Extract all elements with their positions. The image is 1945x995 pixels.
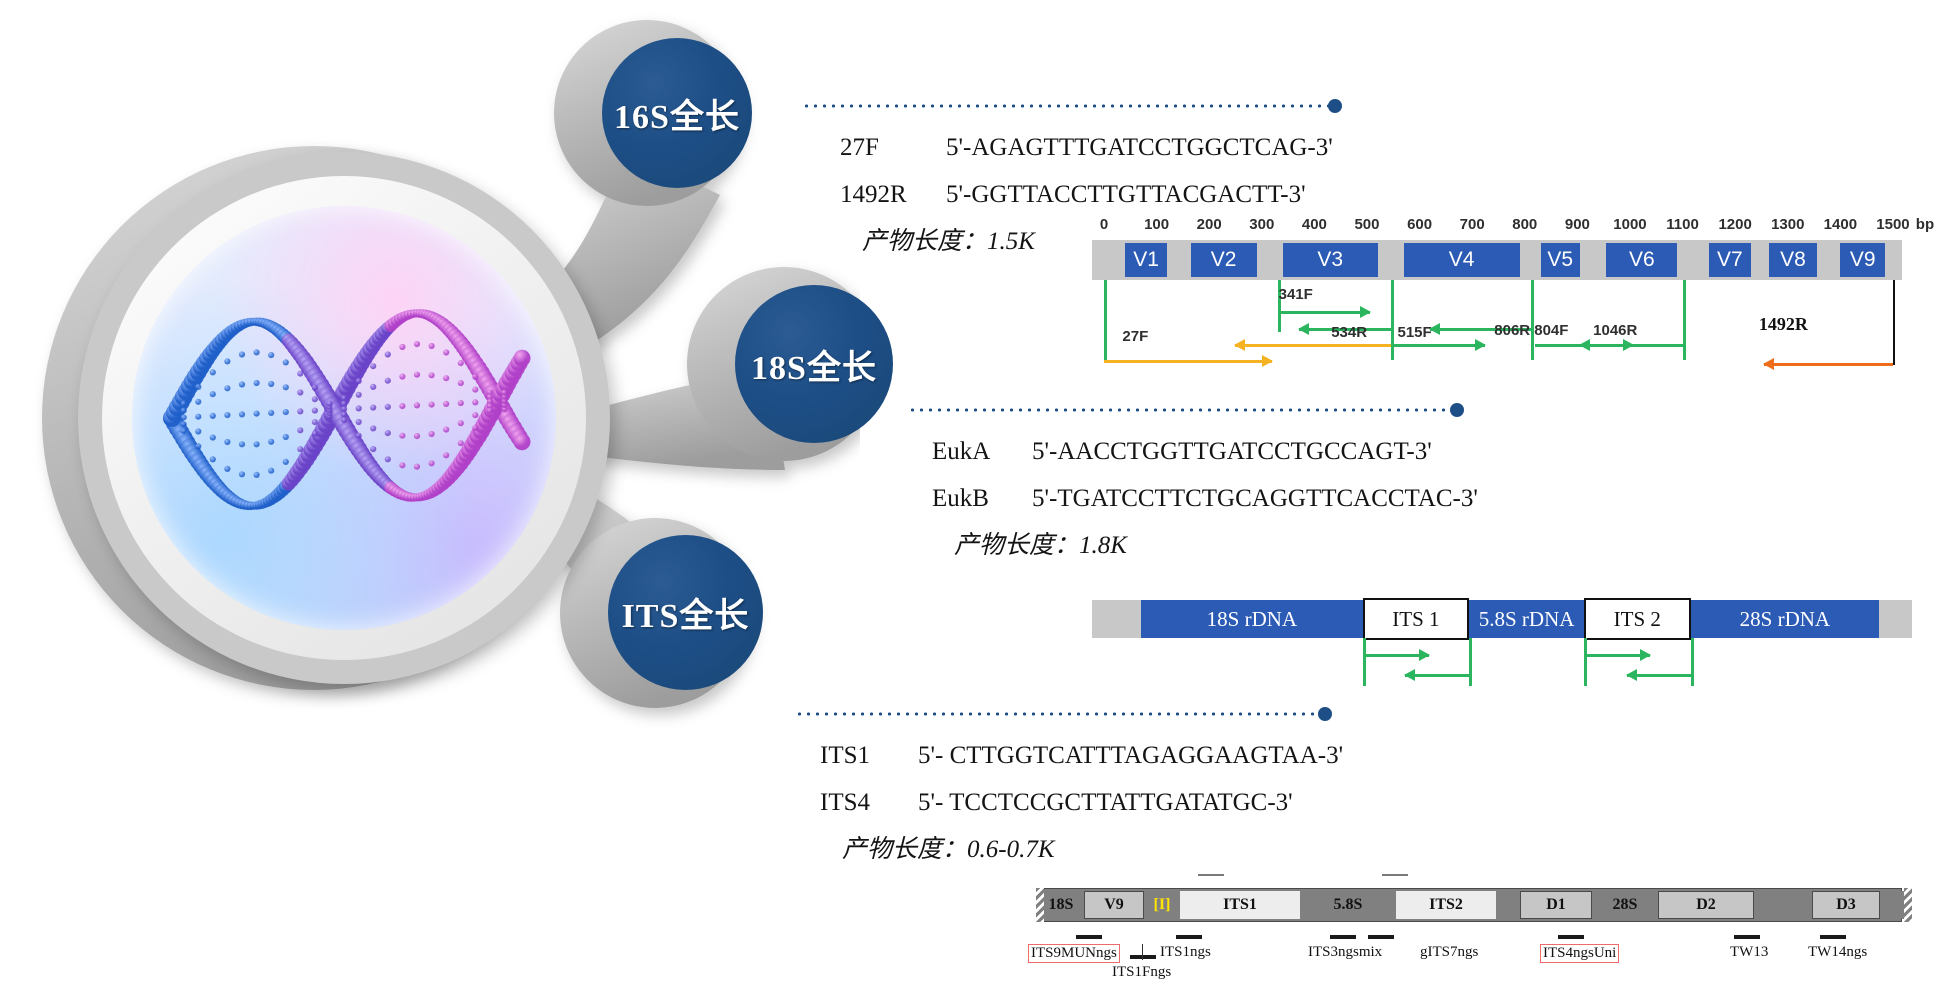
operon-primer-site-line [1363, 638, 1366, 686]
axis-tick: 0 [1100, 216, 1108, 233]
axis-tick: 1400 [1824, 216, 1857, 233]
ngs-primer-arrow-icon [1130, 950, 1156, 959]
badge-16s-full-length[interactable]: 16S全长 [602, 38, 752, 188]
primer-label: 806R [1494, 322, 1530, 339]
ngs-segment-28s: 28S [1592, 891, 1658, 919]
axis-tick: 300 [1249, 216, 1274, 233]
primer-site-line [1683, 280, 1686, 360]
axis-tick: 1200 [1718, 216, 1751, 233]
ngs-primer-arrow-icon [1558, 930, 1584, 939]
ngs-primer-arrow-icon [1076, 930, 1102, 939]
operon-segment-28s-rdna: 28S rDNA [1691, 600, 1880, 638]
ngs-primer-label-its4ngsuni: ITS4ngsUni [1540, 944, 1619, 963]
primer-name: 1492R [840, 171, 946, 218]
product-length-its: 产物长度：0.6-0.7K [820, 826, 1343, 873]
ngs-segment-spacer12 [1880, 891, 1904, 919]
operon-segment-5-8s-rdna: 5.8S rDNA [1469, 600, 1584, 638]
arrow-head-icon [1095, 926, 1104, 938]
operon-segment-its-2: ITS 2 [1584, 598, 1691, 640]
arrow-head-icon [1419, 649, 1430, 661]
arrow-head-icon [1262, 355, 1273, 367]
primer-name: EukB [932, 475, 1032, 522]
primer-row: EukB5'-TGATCCTTCTGCAGGTTCACCTAC-3' [932, 475, 1478, 522]
primer-label: 27F [1122, 328, 1148, 345]
arrow-head-icon [1556, 926, 1565, 938]
primer-block-its: ITS15'- CTTGGTCATTTAGAGGAAGTAA-3' ITS45'… [820, 732, 1343, 873]
connector-dot-16s [1328, 99, 1342, 113]
primer-label: 534R [1331, 324, 1367, 341]
arrow-head-icon [1818, 926, 1827, 938]
arrow-head-icon [1149, 946, 1158, 958]
ngs-primer-label-gits7ngs: gITS7ngs [1420, 944, 1478, 961]
chart-its-ngs-primer-map: 18SV9[I]ITS15.8SITS2D128SD2D3 ITS9MUNngs… [1030, 888, 1910, 988]
ngs-segment--i-: [I] [1144, 891, 1180, 919]
arrow-head-icon [1579, 339, 1590, 351]
connector-dot-18s [1450, 403, 1464, 417]
connector-line-its [795, 712, 1325, 716]
ngs-label-separator [1142, 944, 1143, 960]
ngs-segment-5-8s: 5.8S [1300, 891, 1396, 919]
primer-name: ITS4 [820, 779, 918, 826]
primer-arrow [1580, 344, 1683, 347]
arrow-head-icon [1475, 339, 1486, 351]
ngs-segment-d2: D2 [1658, 891, 1754, 919]
primer-sequence: 5'-AGAGTTTGATCCTGGCTCAG-3' [946, 134, 1333, 161]
ngs-primer-label-its3ngsmix: ITS3ngsmix [1308, 944, 1382, 961]
ngs-segment-18s: 18S [1038, 891, 1084, 919]
arrow-head-icon [1387, 926, 1396, 938]
primer-sequence: 5'- TCCTCCGCTTATTGATATGC-3' [918, 789, 1293, 816]
ngs-top-dash [1198, 874, 1224, 876]
axis-tick: 500 [1354, 216, 1379, 233]
operon-segment-its-1: ITS 1 [1363, 598, 1470, 640]
ngs-segment-d1: D1 [1520, 891, 1592, 919]
operon-primer-arrow [1363, 654, 1429, 657]
axis-tick: 1500 [1876, 216, 1909, 233]
primer-site-line [1391, 280, 1394, 360]
primer-sequence: 5'- CTTGGTCATTTAGAGGAAGTAA-3' [918, 742, 1343, 769]
ngs-bar-zigzag-right [1904, 888, 1912, 922]
blob-cluster: 16S全长 18S全长 ITS全长 [30, 0, 860, 995]
arrow-head-icon [1298, 323, 1309, 335]
primer-sequence: 5'-AACCTGGTTGATCCTGCCAGT-3' [1032, 438, 1432, 465]
ngs-primer-arrow-icon [1820, 930, 1846, 939]
connector-line-16s [802, 104, 1340, 108]
axis-tick: 100 [1144, 216, 1169, 233]
chart-16s-rdna-map: 0100200300400500600700800900100011001200… [1092, 216, 1902, 364]
ngs-primer-label-its1ngs: ITS1ngs [1160, 944, 1211, 961]
primer-site-bracket-1492r [1893, 280, 1895, 365]
ngs-segment-its2: ITS2 [1396, 891, 1496, 919]
operon-primer-site-line [1469, 638, 1472, 686]
variable-region-v1: V1 [1125, 243, 1167, 277]
variable-region-v8: V8 [1769, 243, 1816, 277]
arrow-head-icon [1360, 306, 1371, 318]
axis-tick: 400 [1302, 216, 1327, 233]
variable-region-v2: V2 [1191, 243, 1257, 277]
axis-scale-16s: 0100200300400500600700800900100011001200… [1092, 216, 1902, 238]
primer-row: 27F5'-AGAGTTTGATCCTGGCTCAG-3' [840, 124, 1333, 171]
axis-tick: 1300 [1771, 216, 1804, 233]
primer-arrow [1391, 344, 1486, 347]
ngs-primer-label-tw13: TW13 [1730, 944, 1768, 961]
variable-region-v9: V9 [1840, 243, 1885, 277]
operon-segment-18s-rdna: 18S rDNA [1141, 600, 1362, 638]
primer-row: EukA5'-AACCTGGTTGATCCTGCCAGT-3' [932, 428, 1478, 475]
ngs-primer-label-its9munngs: ITS9MUNngs [1028, 944, 1120, 963]
primer-label: 804F [1534, 322, 1568, 339]
ngs-primer-label-tw14ngs: TW14ngs [1808, 944, 1867, 961]
axis-tick: 1000 [1613, 216, 1646, 233]
arrow-head-icon [1640, 649, 1651, 661]
primer-sequence: 5'-GGTTACCTTGTTACGACTT-3' [946, 181, 1306, 208]
primer-row: 1492R5'-GGTTACCTTGTTACGACTT-3' [840, 171, 1333, 218]
ngs-primer-label-its1fngs: ITS1Fngs [1112, 964, 1171, 981]
dna-helix-image [132, 206, 556, 630]
ngs-segment-d3: D3 [1812, 891, 1880, 919]
primer-site-line [1531, 280, 1534, 360]
ngs-segment-its1: ITS1 [1180, 891, 1300, 919]
variable-region-v4: V4 [1404, 243, 1520, 277]
primer-row: ITS45'- TCCTCCGCTTATTGATATGC-3' [820, 779, 1343, 826]
ngs-segment-v9: V9 [1084, 891, 1144, 919]
connector-line-18s [908, 408, 1456, 412]
axis-tick: 900 [1565, 216, 1590, 233]
dna-photo-inner-ring [102, 176, 586, 660]
primer-label: 1046R [1593, 322, 1637, 339]
operon-primer-site-line [1691, 638, 1694, 686]
primer-arrow [1235, 344, 1390, 347]
ngs-segment-spacer10 [1754, 891, 1812, 919]
ngs-segment-spacer6 [1496, 891, 1520, 919]
axis-tick: 200 [1197, 216, 1222, 233]
primer-arrow [1278, 311, 1370, 314]
variable-region-v6: V6 [1606, 243, 1677, 277]
arrow-head-icon [1234, 339, 1245, 351]
axis-tick: 800 [1512, 216, 1537, 233]
arrow-head-icon [1195, 926, 1204, 938]
variable-region-v5: V5 [1541, 243, 1580, 277]
primer-block-18s: EukA5'-AACCTGGTTGATCCTGCCAGT-3' EukB5'-T… [932, 428, 1478, 569]
axis-tick: 700 [1460, 216, 1485, 233]
primer-arrow [1104, 360, 1272, 363]
axis-unit-label: bp [1916, 216, 1934, 233]
operon-primer-arrow [1405, 674, 1469, 677]
arrow-head-icon [1626, 669, 1637, 681]
variable-region-v3: V3 [1283, 243, 1378, 277]
axis-tick: 1100 [1666, 216, 1699, 233]
arrow-head-icon [1349, 926, 1358, 938]
connector-dot-its [1318, 707, 1332, 721]
badge-18s-full-length[interactable]: 18S全长 [735, 285, 893, 443]
ngs-top-dash [1382, 874, 1408, 876]
ngs-bar-zigzag-left [1036, 888, 1044, 922]
chart-rdna-operon-map: 18S rDNAITS 15.8S rDNAITS 228S rDNA [1092, 600, 1912, 685]
primer-site-line [1104, 280, 1107, 360]
primer-label: 341F [1279, 286, 1313, 303]
arrow-head-icon [1763, 358, 1774, 370]
primer-sequence: 5'-TGATCCTTCTGCAGGTTCACCTAC-3' [1032, 485, 1478, 512]
ngs-primer-arrow-icon [1368, 930, 1394, 939]
ngs-primer-arrow-icon [1176, 930, 1202, 939]
ngs-primer-arrow-icon [1330, 930, 1356, 939]
primer-name: 27F [840, 124, 946, 171]
primer-label: 515F [1397, 324, 1431, 341]
product-length-18s: 产物长度：1.8K [932, 522, 1478, 569]
variable-region-v7: V7 [1709, 243, 1751, 277]
operon-primer-arrow [1584, 654, 1650, 657]
arrow-head-icon [1429, 323, 1440, 335]
badge-its-full-length[interactable]: ITS全长 [608, 535, 763, 690]
primer-row: ITS15'- CTTGGTCATTTAGAGGAAGTAA-3' [820, 732, 1343, 779]
operon-primer-site-line [1584, 638, 1587, 686]
arrow-head-icon [1732, 926, 1741, 938]
arrow-head-icon [1404, 669, 1415, 681]
primer-name: ITS1 [820, 732, 918, 779]
dna-helix-icon [132, 206, 556, 630]
primer-name: EukA [932, 428, 1032, 475]
primer-label: 1492R [1759, 314, 1808, 335]
dna-photo-frame [78, 152, 610, 684]
operon-primer-arrow [1627, 674, 1691, 677]
axis-tick: 600 [1407, 216, 1432, 233]
ngs-primer-arrow-icon [1734, 930, 1760, 939]
primer-arrow [1764, 363, 1893, 366]
